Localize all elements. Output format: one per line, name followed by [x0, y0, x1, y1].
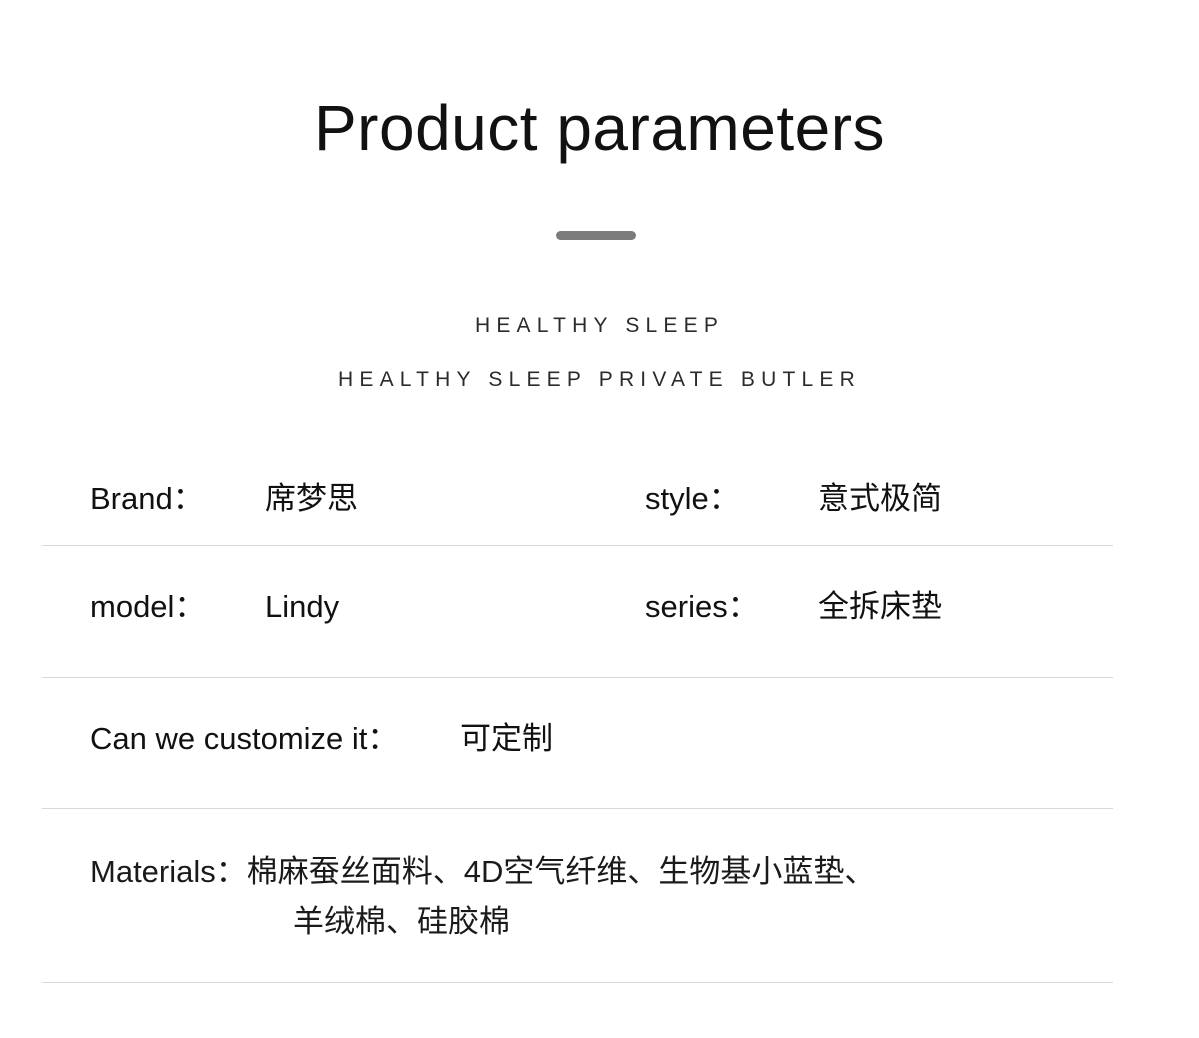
spec-label-brand: Brand：	[90, 476, 204, 522]
spec-value-materials-line2: 羊绒棉、硅胶棉	[90, 897, 1090, 947]
spec-table: Brand： 席梦思 style： 意式极简 model： Lindy seri…	[42, 452, 1113, 983]
table-row: Materials：棉麻蚕丝面料、4D空气纤维、生物基小蓝垫、 羊绒棉、硅胶棉	[42, 809, 1113, 982]
spec-value-style: 意式极简	[818, 476, 942, 522]
row-divider	[42, 982, 1113, 983]
spec-label-style: style：	[645, 476, 740, 522]
table-row: Can we customize it： 可定制	[42, 678, 1113, 808]
spec-value-model: Lindy	[265, 584, 339, 630]
product-parameters-page: Product parameters HEALTHY SLEEP HEALTHY…	[0, 0, 1199, 1038]
subtitle-secondary: HEALTHY SLEEP PRIVATE BUTLER	[0, 365, 1199, 395]
spec-label-customizable: Can we customize it：	[90, 716, 398, 762]
title-divider-bar	[556, 231, 636, 240]
table-row: model： Lindy series： 全拆床垫	[42, 546, 1113, 677]
spec-label-series: series：	[645, 584, 759, 630]
table-row: Brand： 席梦思 style： 意式极简	[42, 452, 1113, 545]
spec-label-materials: Materials：	[90, 854, 247, 889]
page-title: Product parameters	[0, 86, 1199, 170]
spec-label-model: model：	[90, 584, 205, 630]
spec-value-customizable: 可定制	[460, 716, 553, 762]
spec-materials-block: Materials：棉麻蚕丝面料、4D空气纤维、生物基小蓝垫、 羊绒棉、硅胶棉	[90, 847, 1090, 947]
subtitle-primary: HEALTHY SLEEP	[0, 311, 1199, 341]
spec-value-brand: 席梦思	[265, 476, 358, 522]
spec-value-series: 全拆床垫	[818, 584, 942, 630]
spec-value-materials-line1: 棉麻蚕丝面料、4D空气纤维、生物基小蓝垫、	[247, 854, 876, 889]
